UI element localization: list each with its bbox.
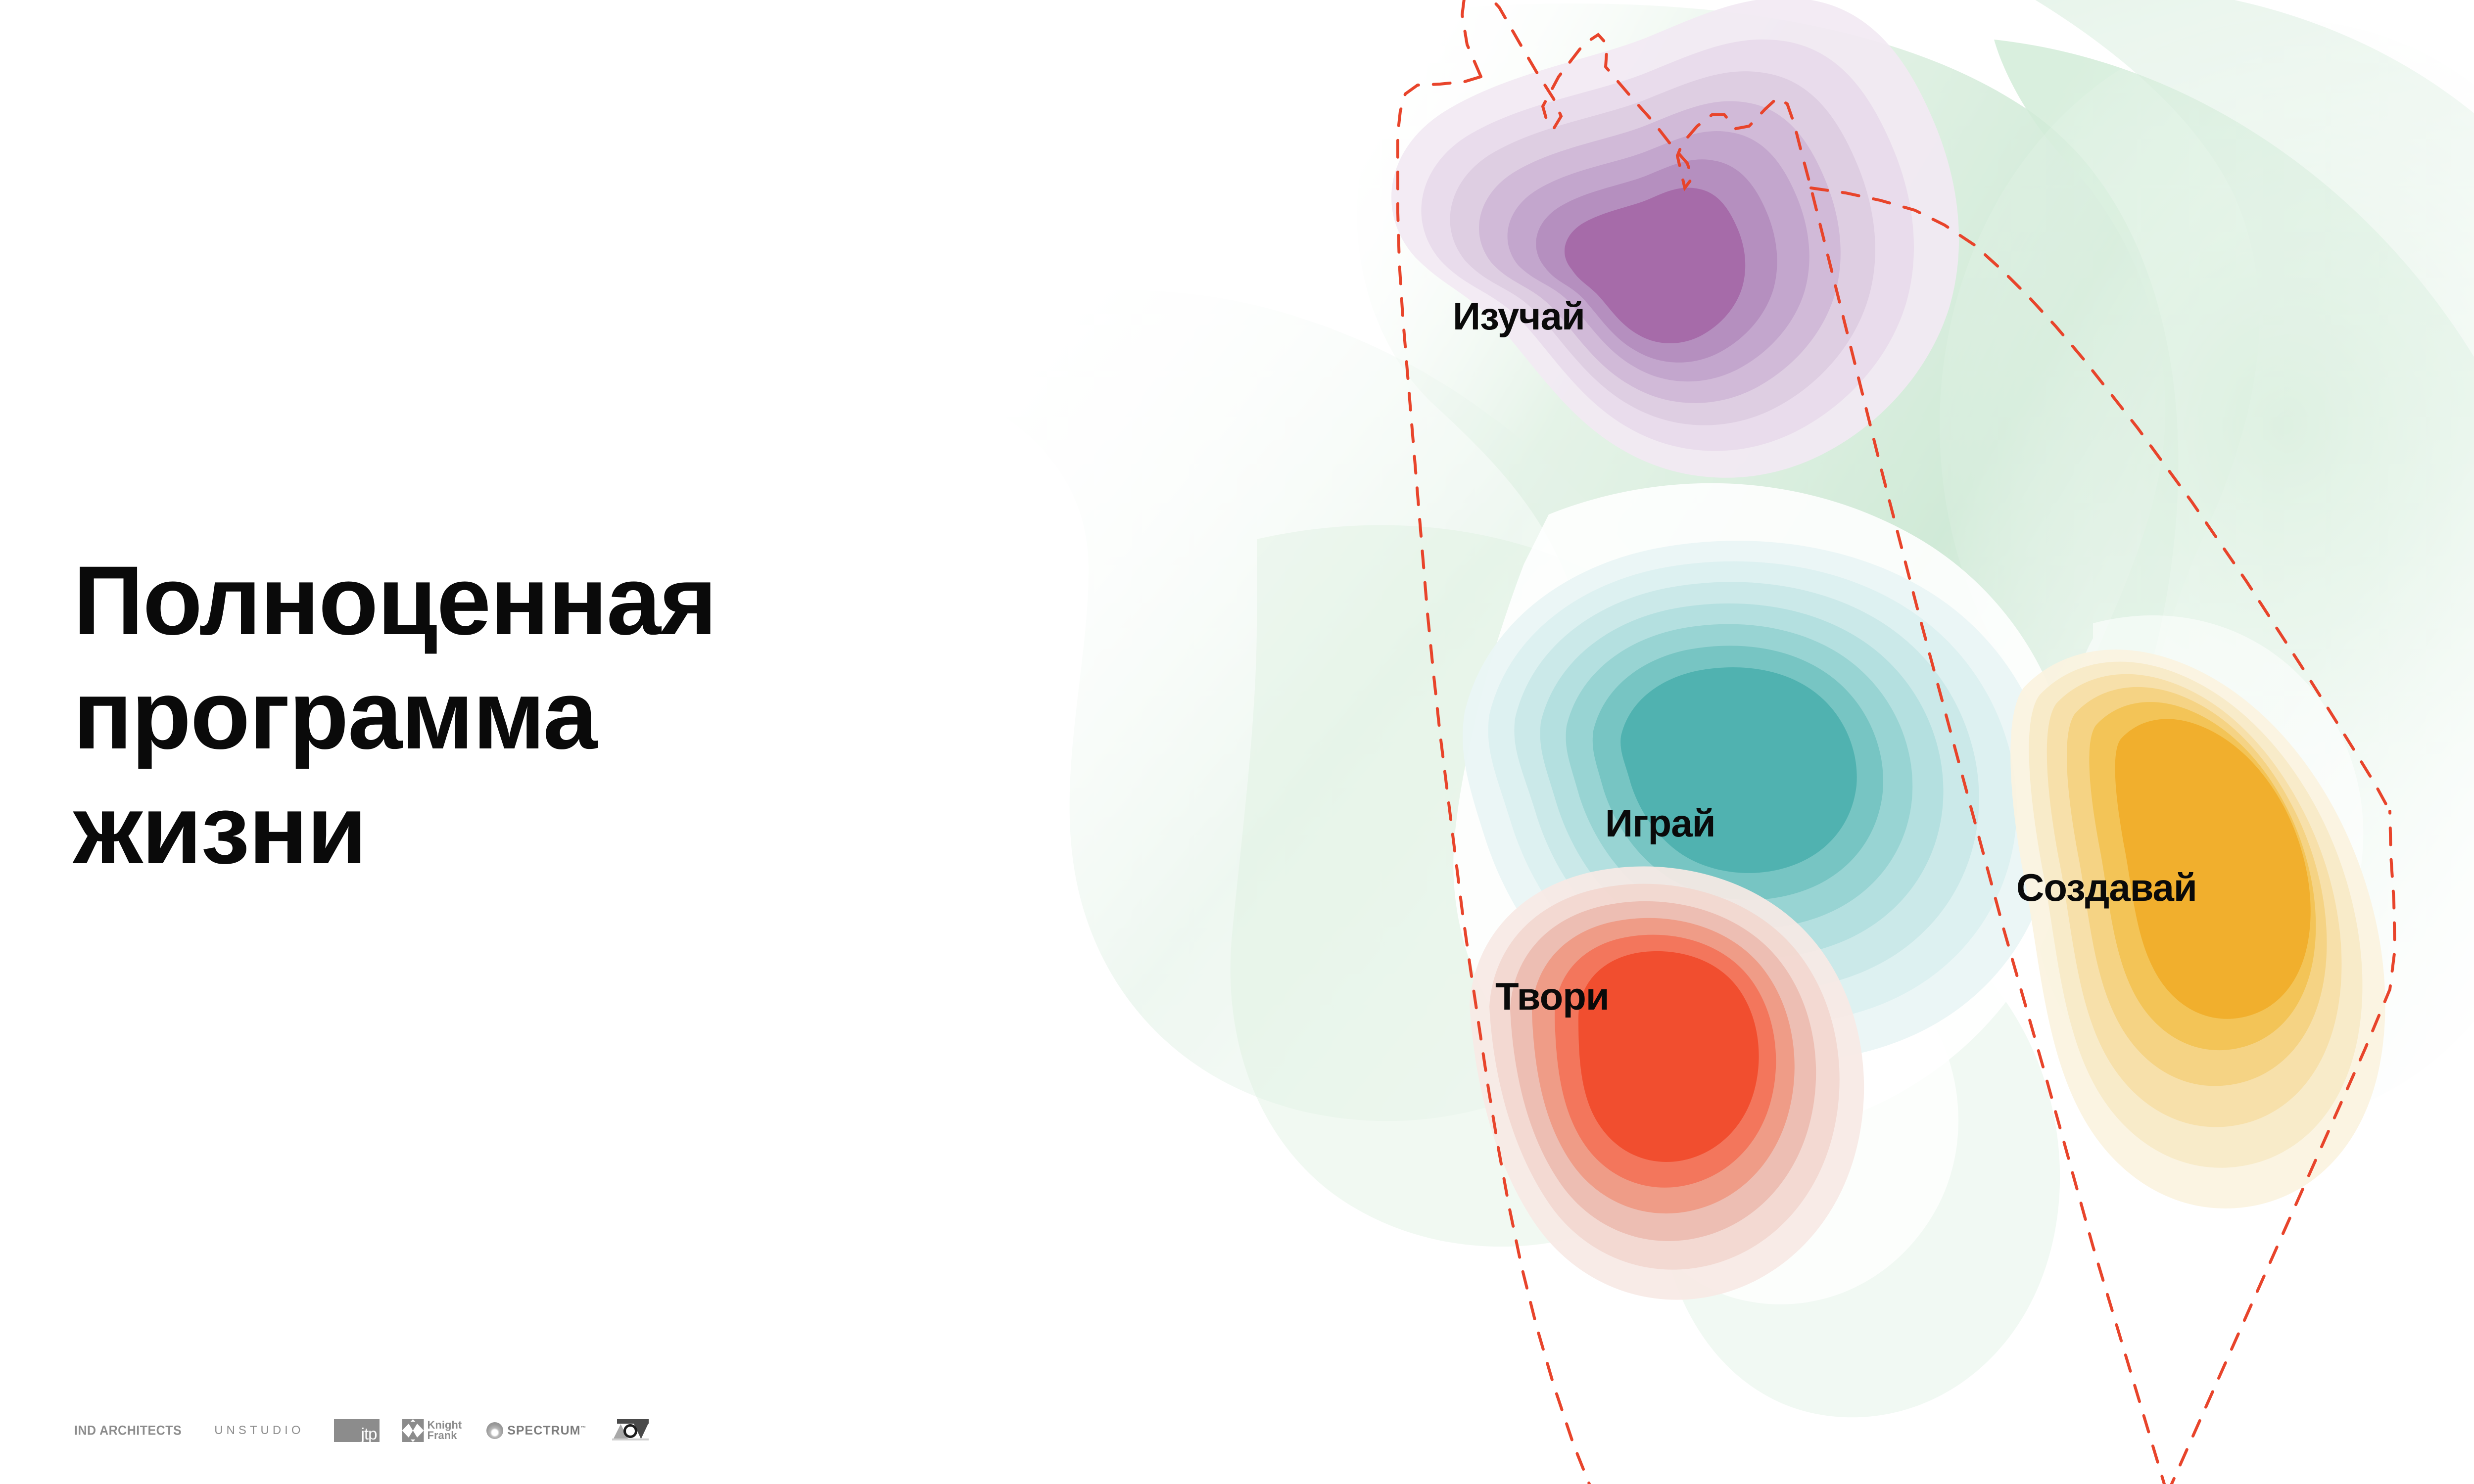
zone-label-tvori[interactable]: Твори: [1495, 977, 1609, 1016]
logo-jtp[interactable]: jtp: [334, 1419, 380, 1442]
logo-spectrum[interactable]: SPECTRUM™: [486, 1419, 586, 1442]
partner-logo-bar: IND ARCHITECTS UNSTUDIO jtp Knight Frank: [74, 1416, 649, 1445]
logo-ind-architects-text: IND ARCHITECTS: [74, 1423, 182, 1438]
zone-label-izuchay[interactable]: Изучай: [1453, 297, 1585, 335]
zone-label-sozdavay[interactable]: Создавай: [2016, 868, 2197, 907]
logo-aom-mark: [612, 1419, 649, 1442]
territory-contour-map: [940, 0, 2474, 1484]
logo-spectrum-word: SPECTRUM: [507, 1424, 580, 1438]
logo-spectrum-text: SPECTRUM™: [507, 1424, 586, 1438]
logo-aom[interactable]: [612, 1419, 649, 1442]
zone-label-igray[interactable]: Играй: [1605, 804, 1715, 842]
page-title: Полноценная программа жизни: [73, 543, 716, 887]
spectrum-shell-icon: [486, 1422, 503, 1439]
logo-unstudio-text: UNSTUDIO: [214, 1424, 304, 1438]
logo-ind-architects[interactable]: IND ARCHITECTS: [74, 1419, 182, 1442]
logo-jtp-text: jtp: [361, 1426, 377, 1442]
logo-knight-frank-line2: Frank: [428, 1429, 457, 1441]
logo-knight-frank[interactable]: Knight Frank: [402, 1419, 462, 1442]
logo-jtp-mark: jtp: [334, 1419, 380, 1442]
logo-unstudio[interactable]: UNSTUDIO: [214, 1419, 304, 1442]
logo-spectrum-tm: ™: [580, 1425, 586, 1431]
knight-frank-bowtie-icon: [402, 1419, 424, 1442]
slide-canvas: Полноценная программа жизни Изучай Играй…: [0, 0, 2474, 1484]
logo-knight-frank-text: Knight Frank: [428, 1420, 462, 1441]
